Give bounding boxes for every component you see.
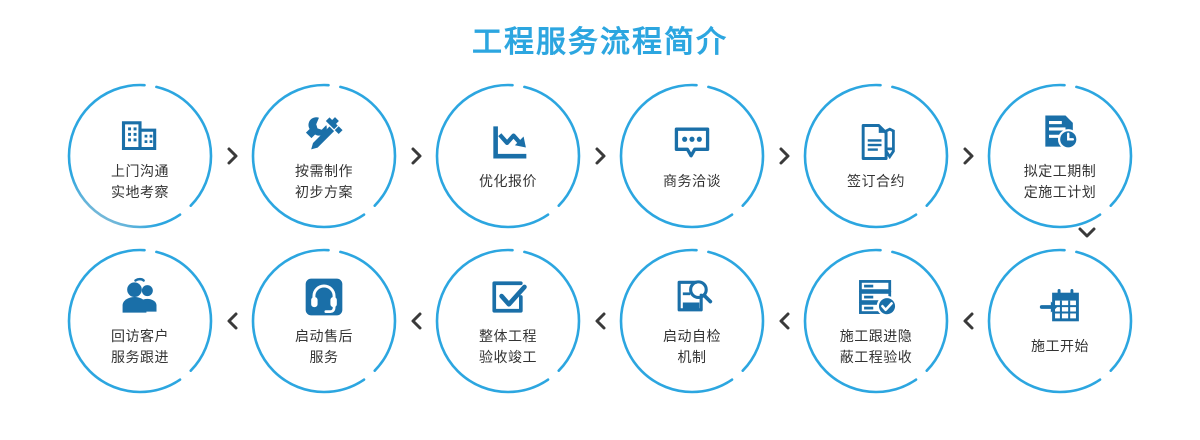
declining-chart-icon (485, 119, 531, 165)
flow-node-label: 按需制作 初步方案 (295, 161, 353, 202)
server-check-icon (853, 274, 899, 320)
flow-node-site-visit[interactable]: 上门沟通 实地考察 (65, 81, 215, 231)
flow-node-customer-followup[interactable]: 回访客户 服务跟进 (65, 246, 215, 396)
chevron-right-icon (215, 146, 249, 166)
flow-node-business-negotiation[interactable]: 商务洽谈 (617, 81, 767, 231)
chevron-right-icon (399, 146, 433, 166)
document-magnifier-icon (669, 274, 715, 320)
document-pen-icon (853, 119, 899, 165)
chevron-left-icon (583, 311, 617, 331)
flow-node-label: 拟定工期制 定施工计划 (1024, 161, 1097, 202)
speech-bubble-icon (669, 119, 715, 165)
flow-node-label: 启动自检 机制 (663, 326, 721, 367)
chevron-right-icon (583, 146, 617, 166)
flow-node-label: 签订合约 (847, 171, 905, 191)
flow-node-draft-plan[interactable]: 按需制作 初步方案 (249, 81, 399, 231)
headset-icon (301, 274, 347, 320)
flow-node-label: 商务洽谈 (663, 171, 721, 191)
calendar-arrow-icon (1037, 284, 1083, 330)
chevron-right-icon (951, 146, 985, 166)
two-users-icon (117, 274, 163, 320)
flow-node-construction-start[interactable]: 施工开始 (985, 246, 1135, 396)
process-flow-diagram: 上门沟通 实地考察 (0, 73, 1200, 403)
checkbox-check-icon (485, 274, 531, 320)
flow-row-top: 上门沟通 实地考察 (0, 73, 1200, 238)
flow-node-self-inspection[interactable]: 启动自检 机制 (617, 246, 767, 396)
flow-node-optimize-quote[interactable]: 优化报价 (433, 81, 583, 231)
chevron-left-icon (215, 311, 249, 331)
chevron-left-icon (399, 311, 433, 331)
chevron-right-icon (767, 146, 801, 166)
flow-row-bottom: 回访客户 服务跟进 启动售后 服务 (0, 238, 1200, 403)
flow-node-concealed-works-check[interactable]: 施工跟进隐 蔽工程验收 (801, 246, 951, 396)
wrench-screwdriver-icon (301, 109, 347, 155)
page-title: 工程服务流程简介 (0, 0, 1200, 59)
chevron-left-icon (767, 311, 801, 331)
document-clock-icon (1037, 109, 1083, 155)
buildings-icon (117, 109, 163, 155)
flow-node-after-sales[interactable]: 启动售后 服务 (249, 246, 399, 396)
flow-node-sign-contract[interactable]: 签订合约 (801, 81, 951, 231)
chevron-down-icon (1074, 223, 1100, 241)
flow-node-schedule-plan[interactable]: 拟定工期制 定施工计划 (985, 81, 1135, 231)
flow-node-label: 施工开始 (1031, 336, 1089, 356)
flow-node-final-acceptance[interactable]: 整体工程 验收竣工 (433, 246, 583, 396)
flow-node-label: 启动售后 服务 (295, 326, 353, 367)
flow-node-label: 上门沟通 实地考察 (111, 161, 169, 202)
flow-node-label: 施工跟进隐 蔽工程验收 (840, 326, 913, 367)
flow-node-label: 回访客户 服务跟进 (111, 326, 169, 367)
chevron-left-icon (951, 311, 985, 331)
flow-node-label: 整体工程 验收竣工 (479, 326, 537, 367)
flow-node-label: 优化报价 (479, 171, 537, 191)
